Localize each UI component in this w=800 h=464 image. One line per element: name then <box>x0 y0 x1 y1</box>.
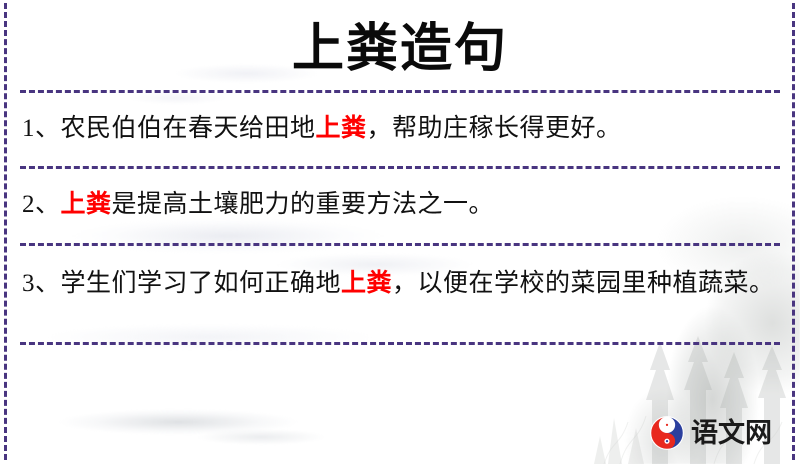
page-title: 上粪造句 <box>20 0 780 72</box>
sentence-3-before: 学生们学习了如何正确地 <box>61 270 342 297</box>
sentence-1-index: 1、 <box>22 115 61 142</box>
yin-yang-circle-icon <box>649 415 685 451</box>
divider-bottom <box>20 342 780 345</box>
sentence-2-index: 2、 <box>22 191 61 218</box>
sentence-3-index: 3、 <box>22 270 61 297</box>
slide-canvas: 上粪造句 1、农民伯伯在春天给田地上粪，帮助庄稼长得更好。 2、上粪是提高土壤肥… <box>0 0 800 464</box>
site-logo-text: 语文网 <box>691 420 772 447</box>
sentence-3-after: ，以便在学校的菜园里种植蔬菜。 <box>392 270 775 297</box>
sentence-3-keyword: 上粪 <box>341 270 392 297</box>
sentence-2-keyword: 上粪 <box>61 191 112 218</box>
sentence-1-before: 农民伯伯在春天给田地 <box>61 115 316 142</box>
example-sentence-2: 2、上粪是提高土壤肥力的重要方法之一。 <box>20 169 780 225</box>
example-sentence-3: 3、学生们学习了如何正确地上粪，以便在学校的菜园里种植蔬菜。 <box>20 246 780 304</box>
site-logo[interactable]: 语文网 <box>649 415 772 451</box>
example-sentence-1: 1、农民伯伯在春天给田地上粪，帮助庄稼长得更好。 <box>20 93 780 149</box>
sentence-2-after: 是提高土壤肥力的重要方法之一。 <box>112 191 495 218</box>
sentence-1-keyword: 上粪 <box>316 115 367 142</box>
slide-content: 上粪造句 1、农民伯伯在春天给田地上粪，帮助庄稼长得更好。 2、上粪是提高土壤肥… <box>0 0 800 464</box>
sentence-1-after: ，帮助庄稼长得更好。 <box>367 115 622 142</box>
